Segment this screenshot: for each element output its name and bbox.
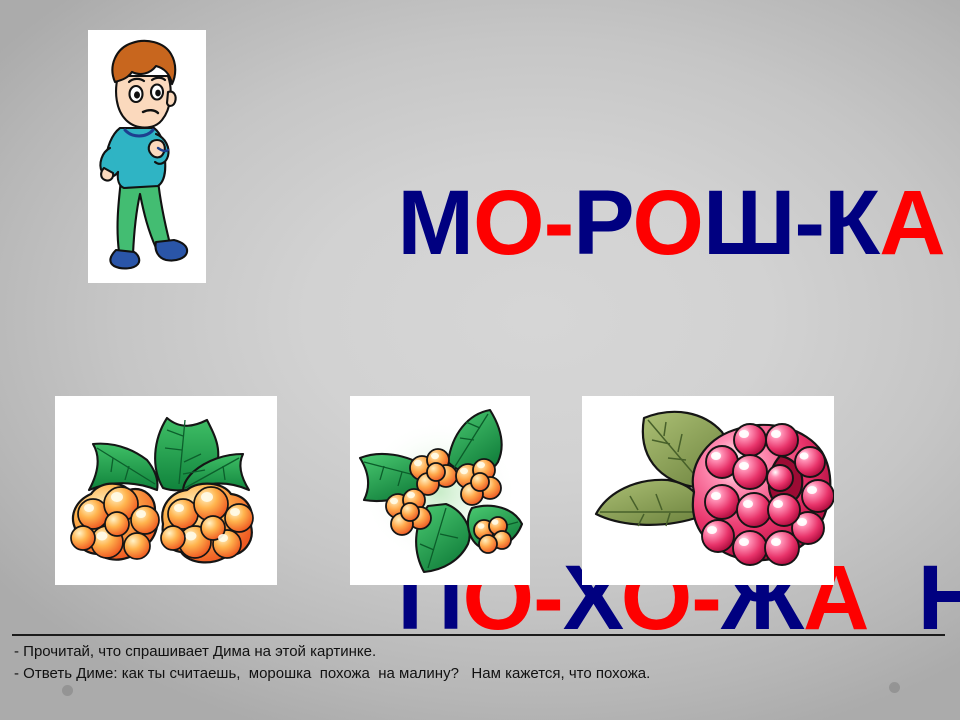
decorative-dot-left	[62, 685, 73, 696]
raspberry-photo	[582, 396, 834, 585]
title-block: МО-РОШ-КА ПО-ХО-ЖА НА МА-ЛИ-НУ?	[250, 36, 950, 720]
cloudberry-plant-photo	[350, 396, 530, 585]
title-line-1: МО-РОШ-КА	[250, 36, 950, 411]
raspberry-icon	[582, 396, 834, 585]
cloudberry-cluster-icon	[55, 396, 277, 585]
note-line-2: - Ответь Диме: как ты считаешь, морошка …	[14, 663, 944, 685]
thinking-boy-icon	[88, 30, 206, 283]
title-char: А	[879, 172, 944, 274]
title-char: О	[632, 172, 703, 274]
note-line-1: - Прочитай, что спрашивает Дима на этой …	[14, 641, 944, 663]
notes-block: - Прочитай, что спрашивает Дима на этой …	[14, 641, 944, 685]
title-char: -	[544, 172, 574, 274]
title-char: -	[794, 172, 824, 274]
thinking-boy-illustration	[88, 30, 206, 283]
cloudberry-cluster-photo	[55, 396, 277, 585]
notes-divider	[12, 634, 945, 636]
title-char: Р	[573, 172, 632, 274]
decorative-dot-right	[889, 682, 900, 693]
cloudberry-plant-icon	[350, 396, 530, 585]
title-char: К	[824, 172, 879, 274]
title-char: М	[397, 172, 473, 274]
title-char: О	[473, 172, 544, 274]
slide-canvas: МО-РОШ-КА ПО-ХО-ЖА НА МА-ЛИ-НУ?	[0, 0, 960, 720]
title-char: Ш	[703, 172, 794, 274]
